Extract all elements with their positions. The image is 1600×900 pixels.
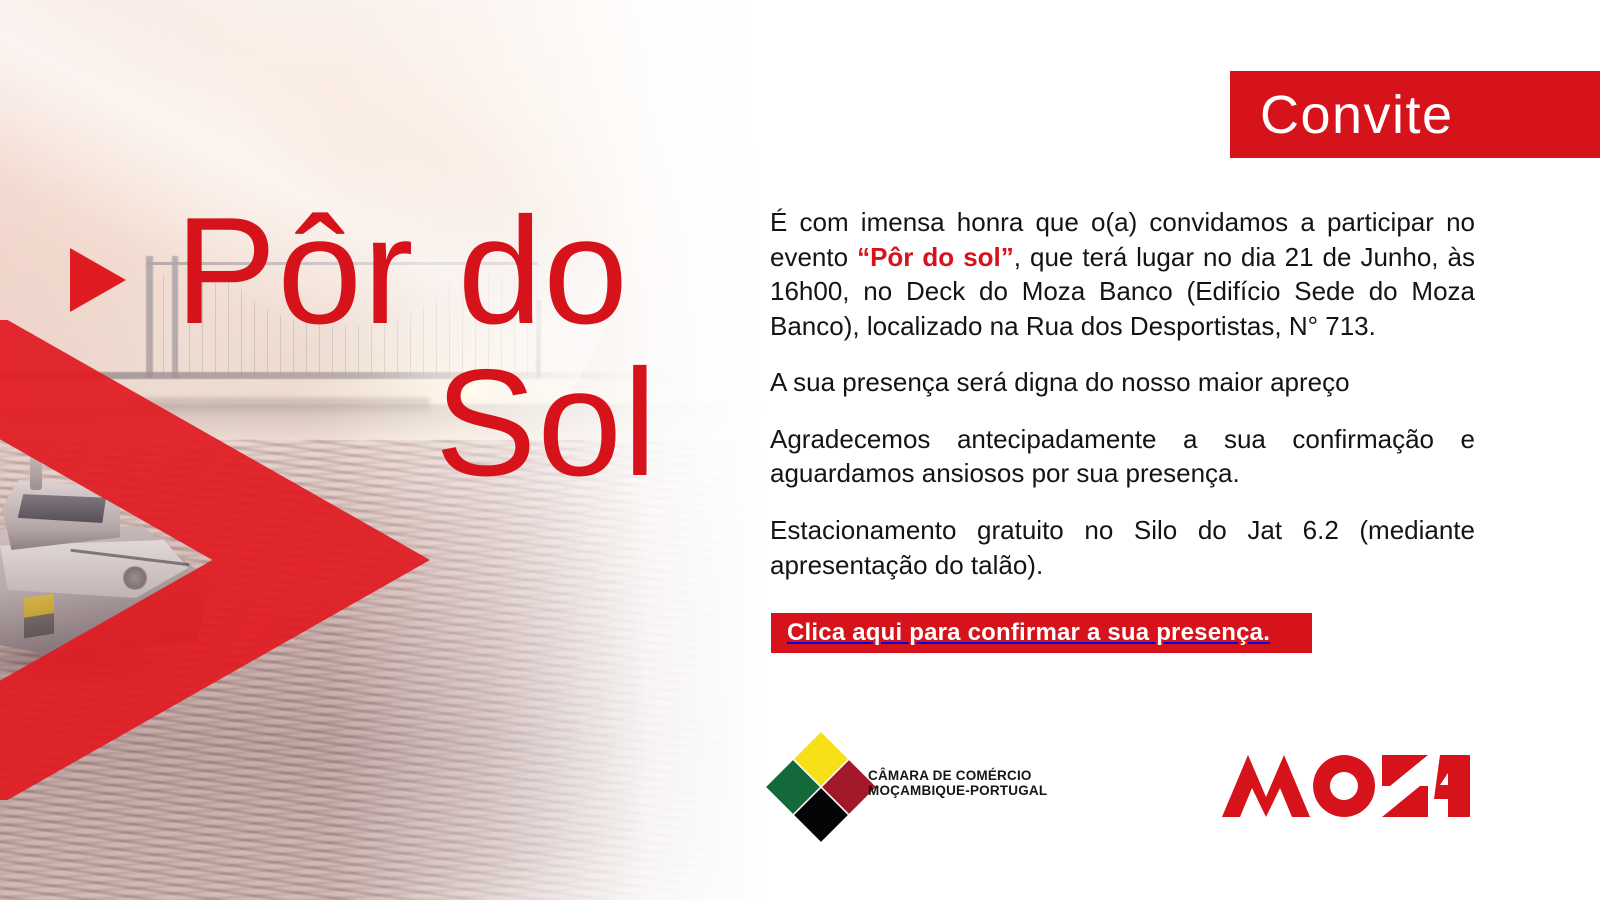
confirm-presence-button[interactable]: Clica aqui para confirmar a sua presença…: [771, 613, 1312, 653]
camara-de-comercio-logo: CÂMARA DE COMÉRCIO MOÇAMBIQUE-PORTUGAL: [772, 740, 1032, 832]
convite-banner: Convite: [1230, 71, 1600, 158]
confirm-presence-label: Clica aqui para confirmar a sua presença…: [771, 619, 1270, 647]
hero-title: Pôr do Sol: [175, 193, 735, 503]
invitation-body: É com imensa honra que o(a) convidamos a…: [770, 205, 1475, 604]
paragraph-1: É com imensa honra que o(a) convidamos a…: [770, 205, 1475, 343]
hero-title-line2: Sol: [435, 338, 658, 508]
moza-logo: [1222, 755, 1470, 817]
paragraph-3: Agradecemos antecipadamente a sua confir…: [770, 422, 1475, 491]
invitation-canvas: Pôr do Sol Convite É com imensa honra qu…: [0, 0, 1600, 900]
camara-line-1: CÂMARA DE COMÉRCIO: [868, 768, 1047, 783]
camara-line-2: MOÇAMBIQUE-PORTUGAL: [868, 783, 1047, 798]
play-triangle-icon: [70, 248, 126, 312]
event-name-highlight: “Pôr do sol”: [857, 242, 1014, 272]
hero-title-line1: Pôr do: [175, 186, 629, 356]
paragraph-4: Estacionamento gratuito no Silo do Jat 6…: [770, 513, 1475, 582]
moza-wordmark-icon: [1222, 755, 1470, 817]
paragraph-2: A sua presença será digna do nosso maior…: [770, 365, 1475, 400]
convite-label: Convite: [1230, 88, 1454, 142]
camara-de-comercio-wordmark: CÂMARA DE COMÉRCIO MOÇAMBIQUE-PORTUGAL: [868, 768, 1047, 798]
